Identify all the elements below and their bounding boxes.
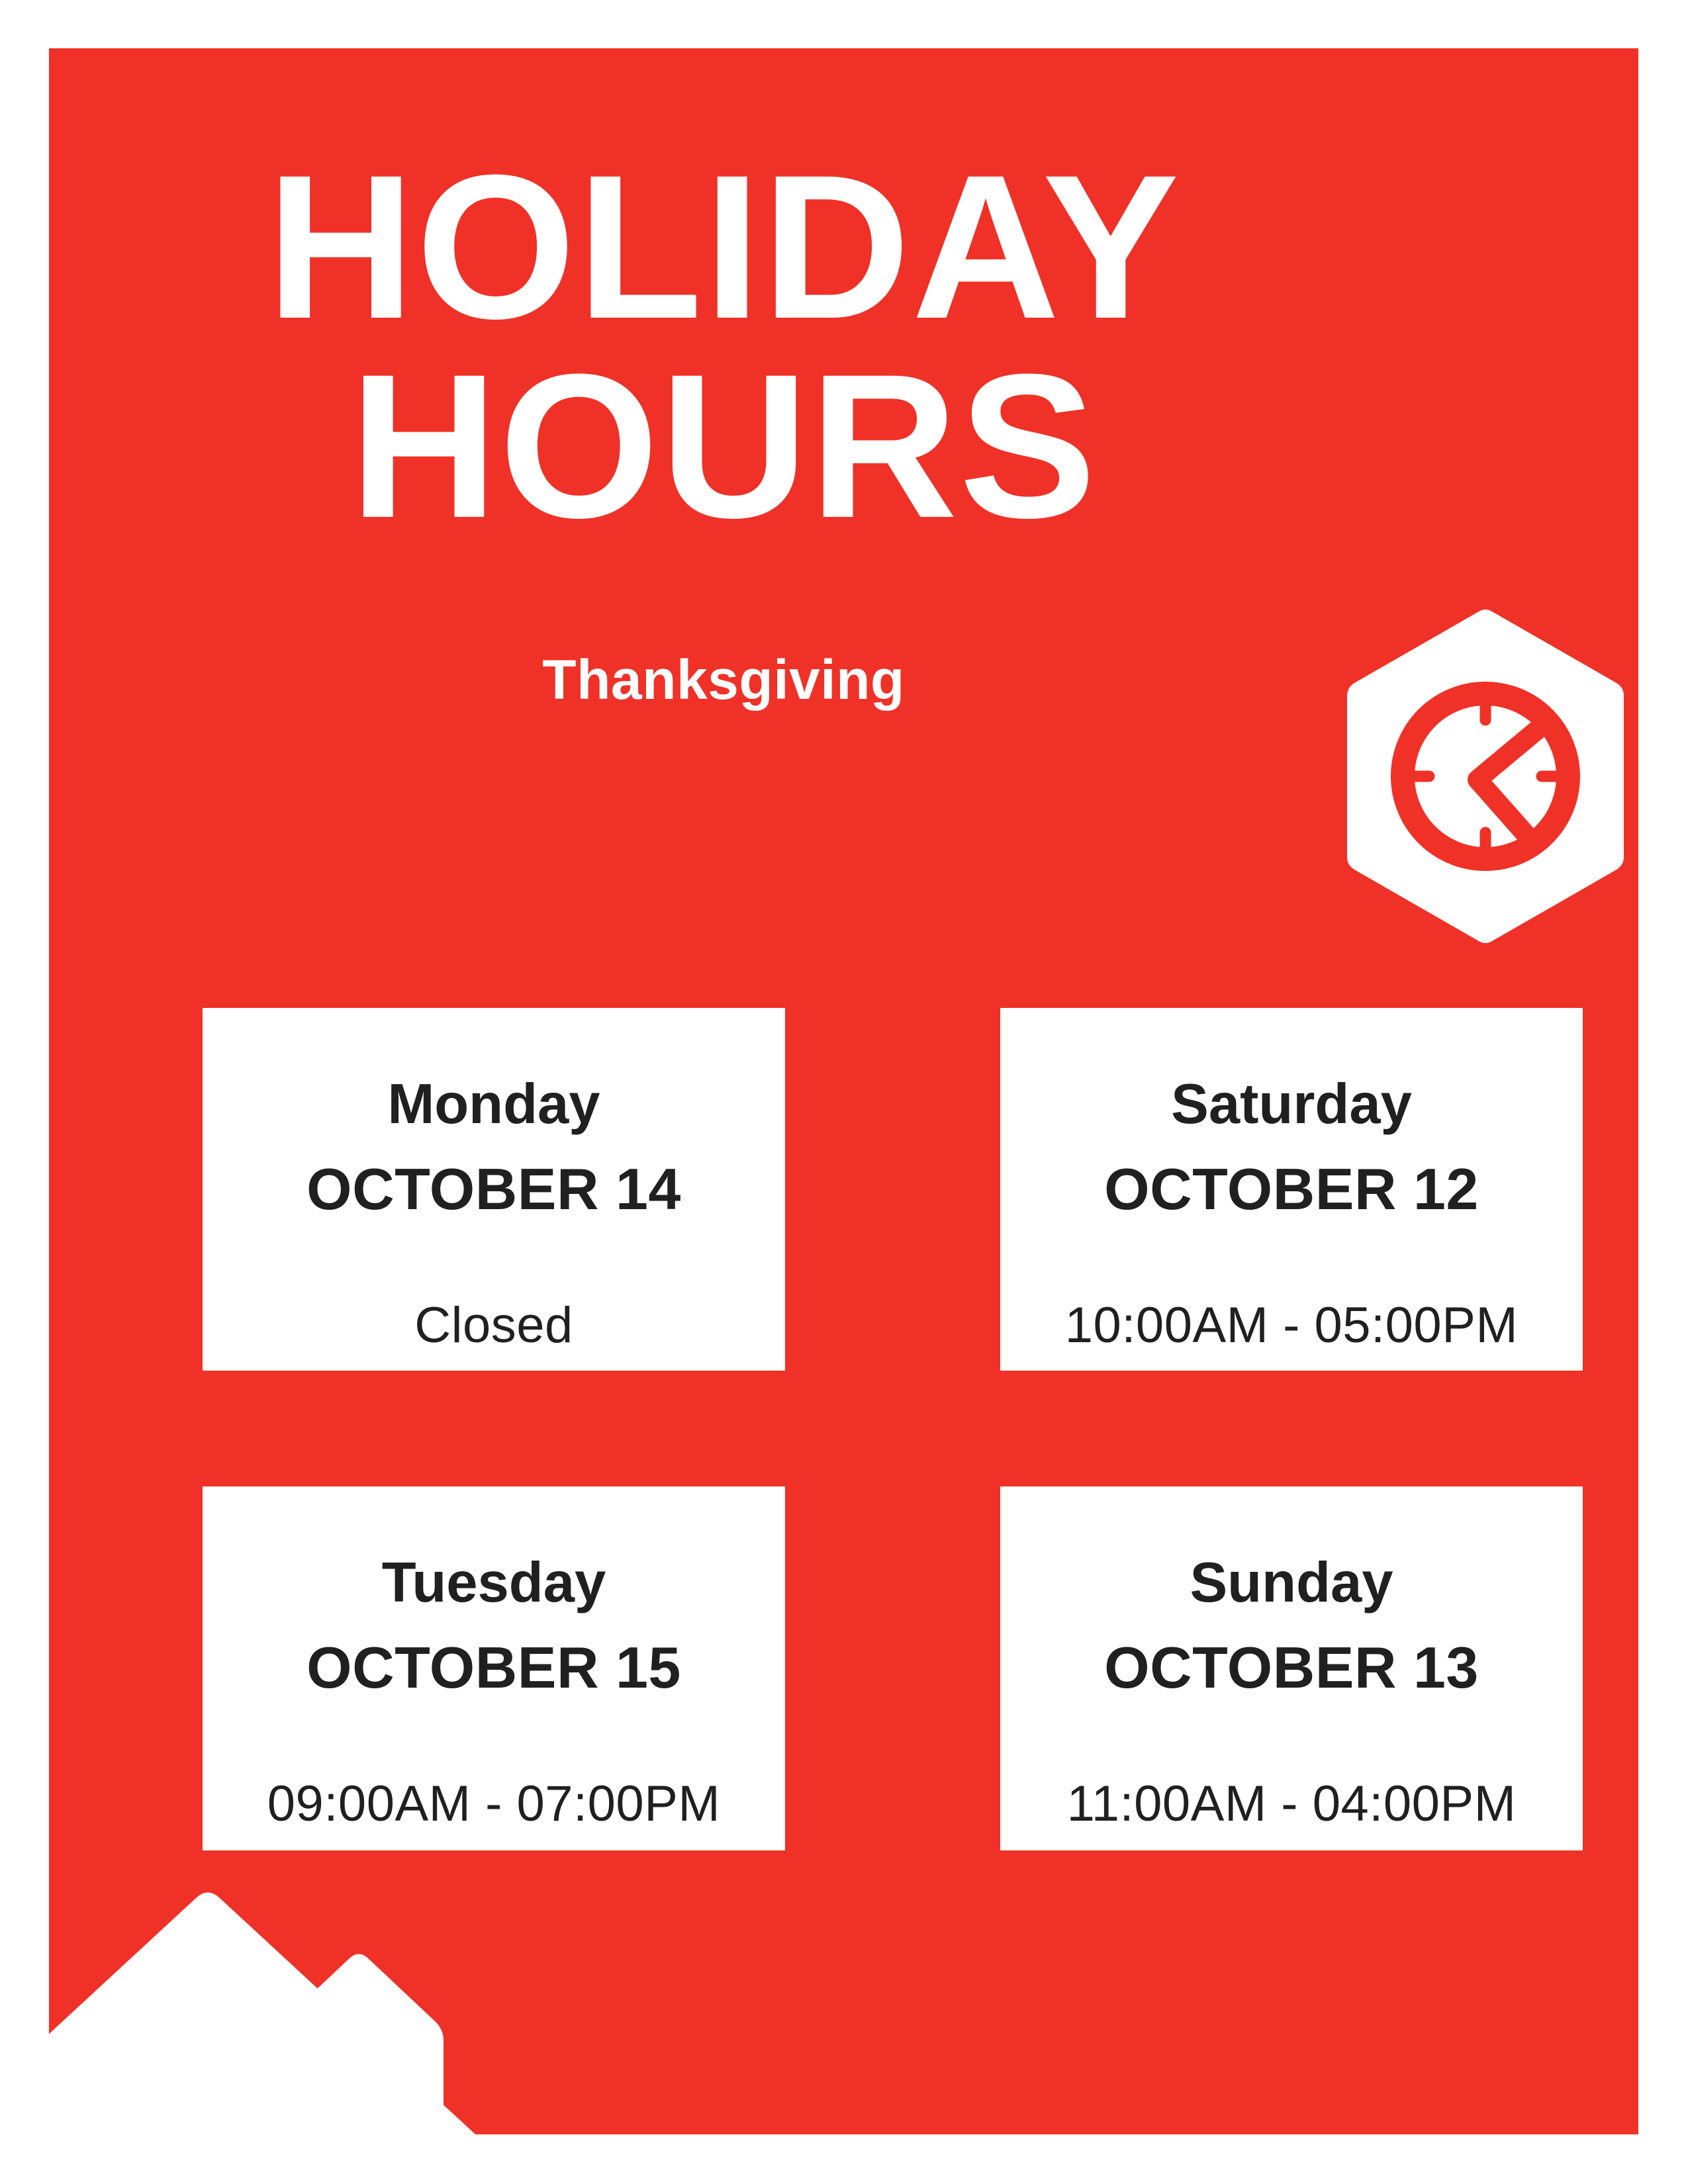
card-weekday: Monday (387, 1076, 600, 1132)
card-date: OCTOBER 13 (1104, 1639, 1479, 1697)
card-weekday: Tuesday (382, 1555, 606, 1611)
schedule-card[interactable]: Saturday OCTOBER 12 10:00AM - 05:00PM (1000, 1008, 1583, 1371)
poster-canvas: HOLIDAY HOURS Thanksgiving Monday OCTOBE… (49, 48, 1638, 2134)
card-hours: Closed (414, 1300, 573, 1351)
page-title: HOLIDAY HOURS (98, 148, 1349, 545)
title-line-holiday: HOLIDAY (98, 148, 1349, 347)
title-line-hours: HOURS (98, 347, 1349, 546)
schedule-card[interactable]: Monday OCTOBER 14 Closed (203, 1008, 785, 1371)
card-hours: 09:00AM - 07:00PM (267, 1779, 720, 1829)
card-weekday: Saturday (1171, 1076, 1412, 1132)
bottom-small-hexagon-shape (274, 1954, 444, 2135)
card-hours: 11:00AM - 04:00PM (1067, 1779, 1517, 1829)
clock-hexagon-icon (1343, 608, 1628, 945)
schedule-card[interactable]: Tuesday OCTOBER 15 09:00AM - 07:00PM (203, 1486, 785, 1850)
schedule-card-content: Saturday OCTOBER 12 10:00AM - 05:00PM (1000, 1008, 1583, 1371)
schedule-card[interactable]: Sunday OCTOBER 13 11:00AM - 04:00PM (1000, 1486, 1583, 1850)
schedule-card-content: Tuesday OCTOBER 15 09:00AM - 07:00PM (203, 1486, 785, 1850)
card-date: OCTOBER 15 (306, 1639, 681, 1697)
card-hours: 10:00AM - 05:00PM (1065, 1300, 1518, 1351)
bottom-large-hexagon-shape (49, 1893, 831, 2135)
card-weekday: Sunday (1190, 1555, 1393, 1611)
card-date: OCTOBER 14 (306, 1160, 681, 1218)
subtitle-occasion: Thanksgiving (98, 652, 1349, 707)
schedule-card-content: Sunday OCTOBER 13 11:00AM - 04:00PM (1000, 1486, 1583, 1850)
card-date: OCTOBER 12 (1104, 1160, 1479, 1218)
schedule-card-content: Monday OCTOBER 14 Closed (203, 1008, 785, 1371)
